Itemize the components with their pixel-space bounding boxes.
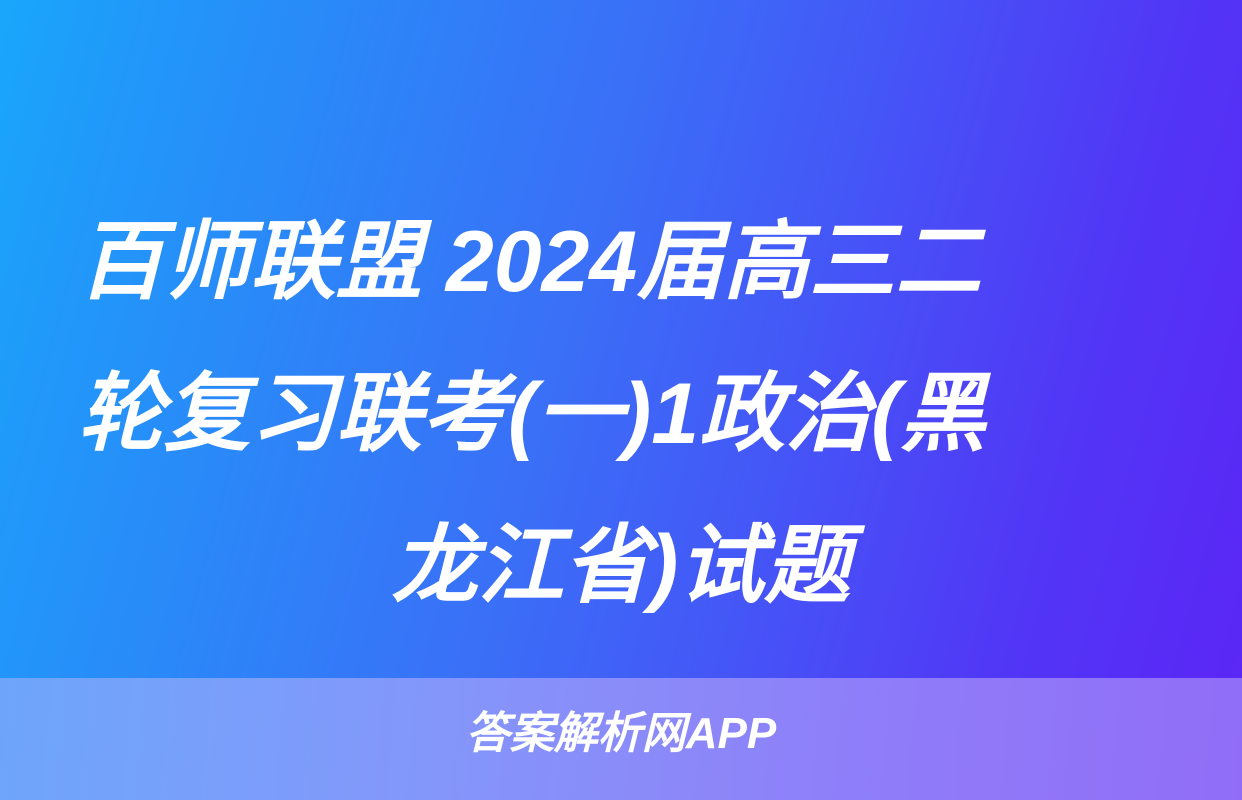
app-watermark-label: 答案解析网APP — [0, 706, 1242, 762]
page-title-line-3: 龙江省)试题 — [78, 490, 1164, 642]
page-title-line-1: 百师联盟 2024届高三二 — [78, 186, 1164, 338]
poster-container: 百师联盟 2024届高三二 轮复习联考(一)1政治(黑 龙江省)试题 答案解析网… — [0, 0, 1242, 800]
page-title-line-2: 轮复习联考(一)1政治(黑 — [78, 338, 1164, 490]
page-title: 百师联盟 2024届高三二 轮复习联考(一)1政治(黑 龙江省)试题 — [0, 186, 1242, 642]
